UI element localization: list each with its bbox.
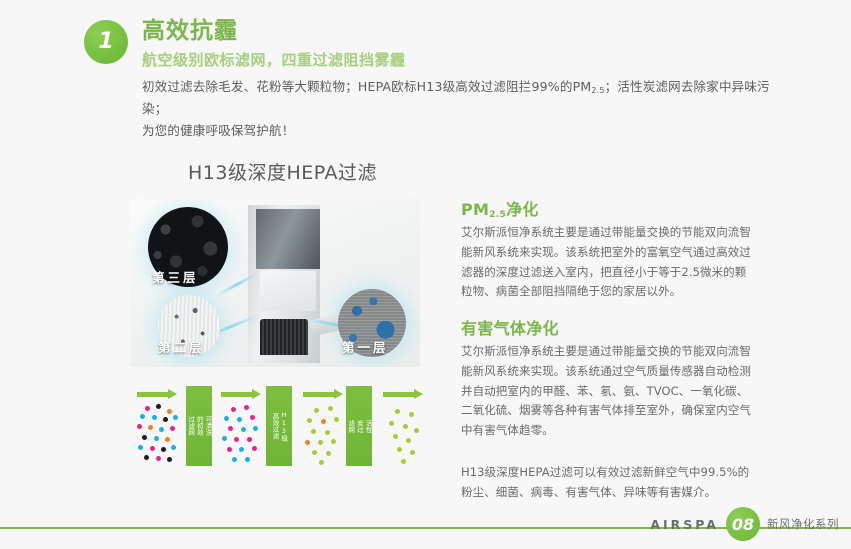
pm25-heading-tail: 净化 [506,200,539,219]
photo-label-layer1: 第一层 [342,337,389,356]
page-subtitle: 航空级别欧标滤网，四重过滤阻挡雾霾 [142,49,406,70]
particle-group-2 [219,404,265,466]
header-description: 初效过滤去除毛发、花粉等大颗粒物；HEPA欧标H13级高效过滤阻拦99%的PM2… [142,76,792,142]
harmful-gas-heading: 有害气体净化 [461,315,753,339]
pm25-heading-main: PM [461,200,489,219]
photo-label-layer2: 第二层 [158,337,205,356]
hepa-summary-block: H13级深度HEPA过滤可以有效过滤新鲜空气中99.5%的粉尘、细菌、病毒、有害… [461,463,753,503]
pm25-heading: PM2.5净化 [461,196,753,220]
particle-group-3 [301,404,347,466]
section-title: H13级深度HEPA过滤 [188,158,377,185]
pm25-block: PM2.5净化 艾尔斯派恒净系统主要是通过带能量交换的节能双向流智能新风系统来实… [461,196,753,302]
right-content-column: PM2.5净化 艾尔斯派恒净系统主要是通过带能量交换的节能双向流智能新风系统来实… [461,196,753,502]
filter-bar-2-label: H13级 高效过滤 [266,386,292,466]
pm-subscript: 2.5 [591,86,604,95]
filter-bar-2: H13级 高效过滤 [266,386,292,466]
filter-photo-illustration: 第三层 第二层 第一层 [130,199,420,367]
filter-bar-3-label: 活性 炭过 滤网 [346,386,372,466]
pm25-paragraph: 艾尔斯派恒净系统主要是通过带能量交换的节能双向流智能新风系统来实现。该系统把室外… [461,223,753,302]
flow-arrow-3 [303,389,343,400]
filter-bar-1: 可清洗 的初效 过滤网 [186,386,212,466]
air-unit-fan [260,319,308,355]
header-description-line1: 初效过滤去除毛发、花粉等大颗粒物；HEPA欧标H13级高效过滤阻拦99%的PM [142,79,591,94]
harmful-gas-paragraph: 艾尔斯派恒净系统主要是通过带能量交换的节能双向流智能新风系统来实现。该系统通过空… [461,342,753,441]
page-title: 高效抗霾 [142,18,238,44]
photo-label-layer3: 第三层 [152,267,199,286]
flow-arrow-4 [383,389,423,400]
header-description-line2: 为您的健康呼吸保驾护航！ [142,123,294,138]
flow-arrow-2 [221,389,261,400]
filter-flow-diagram: 可清洗 的初效 过滤网 H13级 高效过滤 [133,386,428,468]
hepa-summary-paragraph: H13级深度HEPA过滤可以有效过滤新鲜空气中99.5%的粉尘、细菌、病毒、有害… [461,463,753,503]
step-number-badge: 1 [84,20,128,64]
footer: AIRSPA 08 新风净化系列 [650,506,839,542]
filter-bar-3: 活性 炭过 滤网 [346,386,372,466]
header-block: 1 高效抗霾 航空级别欧标滤网，四重过滤阻挡雾霾 初效过滤去除毛发、花粉等大颗粒… [84,18,804,128]
air-unit-top-module [256,209,320,269]
page-root: 1 高效抗霾 航空级别欧标滤网，四重过滤阻挡雾霾 初效过滤去除毛发、花粉等大颗粒… [0,0,851,549]
footer-page-badge: 08 [726,507,760,541]
particle-group-4 [381,404,427,466]
pm25-heading-sub: 2.5 [489,210,506,220]
flow-arrow-1 [137,389,177,400]
harmful-gas-block: 有害气体净化 艾尔斯派恒净系统主要是通过带能量交换的节能双向流智能新风系统来实现… [461,315,753,441]
particle-group-1 [135,404,181,466]
filter-bar-1-label: 可清洗 的初效 过滤网 [186,386,212,466]
footer-series-label: 新风净化系列 [767,516,839,532]
air-unit-mid-module [260,271,316,311]
footer-brand: AIRSPA [650,517,719,532]
